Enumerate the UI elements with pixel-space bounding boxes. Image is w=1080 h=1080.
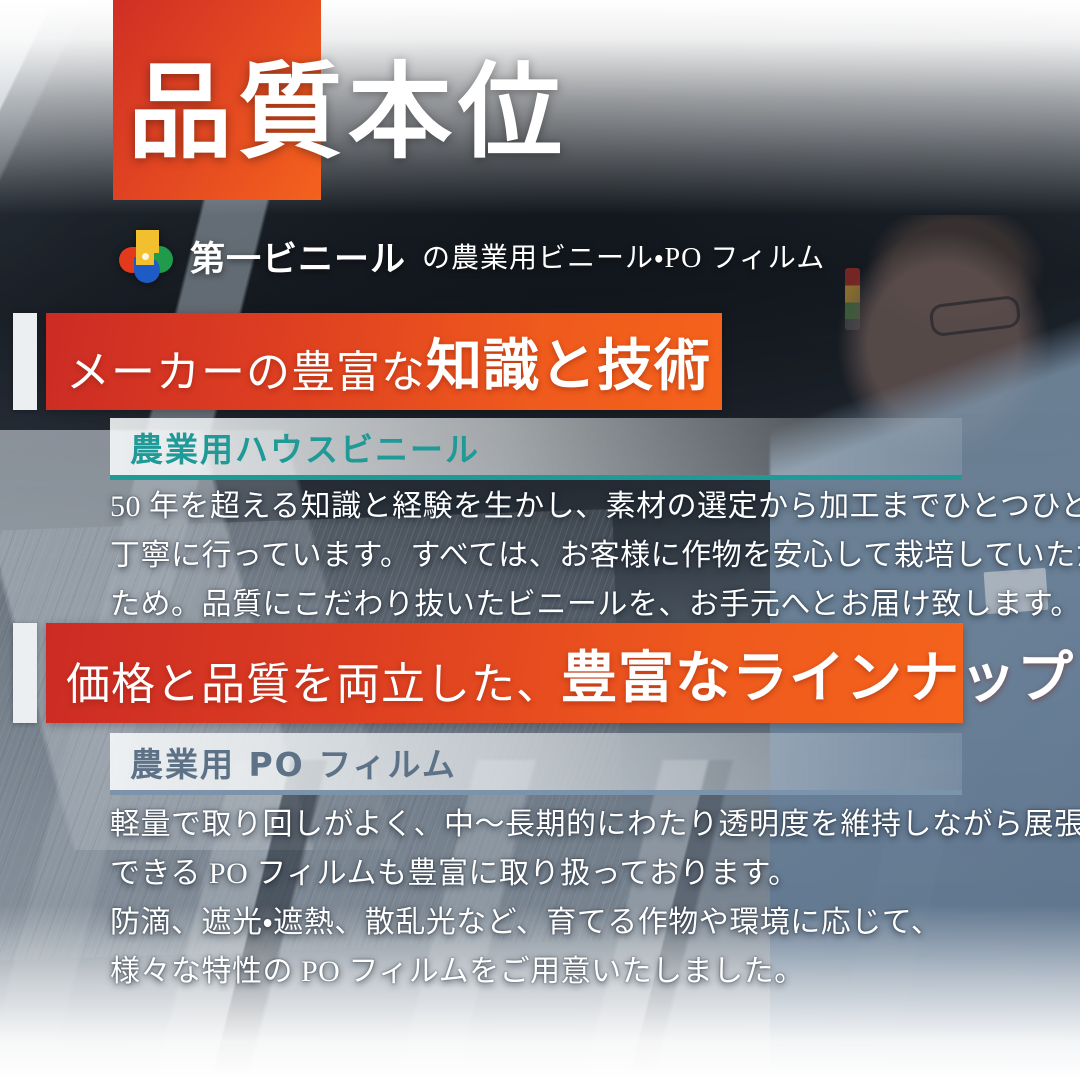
subheading-po-film: 農業用 PO フィルム bbox=[110, 733, 962, 795]
body-copy-2: 軽量で取り回しがよく、中〜長期的にわたり透明度を維持しながら展張 できる PO … bbox=[110, 800, 990, 996]
section-headline-2: 価格と品質を両立した、豊富なラインナップ bbox=[46, 623, 963, 723]
brand-line: 第一ビニール の農業用ビニール・PO フィルム bbox=[118, 228, 825, 284]
headline-1-small: メーカーの豊富な bbox=[66, 348, 426, 397]
section-marker-2 bbox=[13, 623, 37, 723]
body-2-line-3: 防滴、遮光・遮熱、散乱光など、育てる作物や環境に応じて、 bbox=[110, 898, 990, 947]
section-headline-1: メーカーの豊富な知識と技術 bbox=[46, 313, 722, 410]
headline-1-large: 知識と技術 bbox=[426, 336, 711, 398]
subheading-house-vinyl: 農業用ハウスビニール bbox=[110, 418, 962, 480]
headline-2-large: 豊富なラインナップ bbox=[561, 648, 1074, 710]
body-copy-1: 50 年を超える知識と経験を生かし、素材の選定から加工までひとつひとつ 丁寧に行… bbox=[110, 482, 990, 629]
body-1-line-2: 丁寧に行っています。すべては、お客様に作物を安心して栽培していただく bbox=[110, 531, 990, 580]
body-2-line-1: 軽量で取り回しがよく、中〜長期的にわたり透明度を維持しながら展張 bbox=[110, 800, 990, 849]
body-2-line-4: 様々な特性の PO フィルムをご用意いたしました。 bbox=[110, 947, 990, 996]
headline-2-small: 価格と品質を両立した、 bbox=[66, 660, 561, 709]
page-title: 品質本位 bbox=[128, 62, 568, 166]
subheading-1-label: 農業用ハウスビニール bbox=[110, 423, 480, 471]
company-name: 第一ビニール bbox=[190, 231, 406, 282]
body-1-line-3: ため。品質にこだわり抜いたビニールを、お手元へとお届け致します。 bbox=[110, 580, 990, 629]
section-marker-1 bbox=[13, 313, 37, 410]
hero: 品質本位 bbox=[0, 0, 1080, 205]
body-2-line-2: できる PO フィルムも豊富に取り扱っております。 bbox=[110, 849, 990, 898]
brand-tagline: の農業用ビニール・PO フィルム bbox=[422, 236, 825, 276]
daiichi-vinyl-logo-icon bbox=[118, 228, 174, 284]
promo-banner: 品質本位 第一ビニール の農業用ビニール・PO フィルム メーカーの豊富な知識と… bbox=[0, 0, 1080, 1080]
subheading-2-label: 農業用 PO フィルム bbox=[110, 738, 457, 786]
body-1-line-1: 50 年を超える知識と経験を生かし、素材の選定から加工までひとつひとつ bbox=[110, 482, 990, 531]
